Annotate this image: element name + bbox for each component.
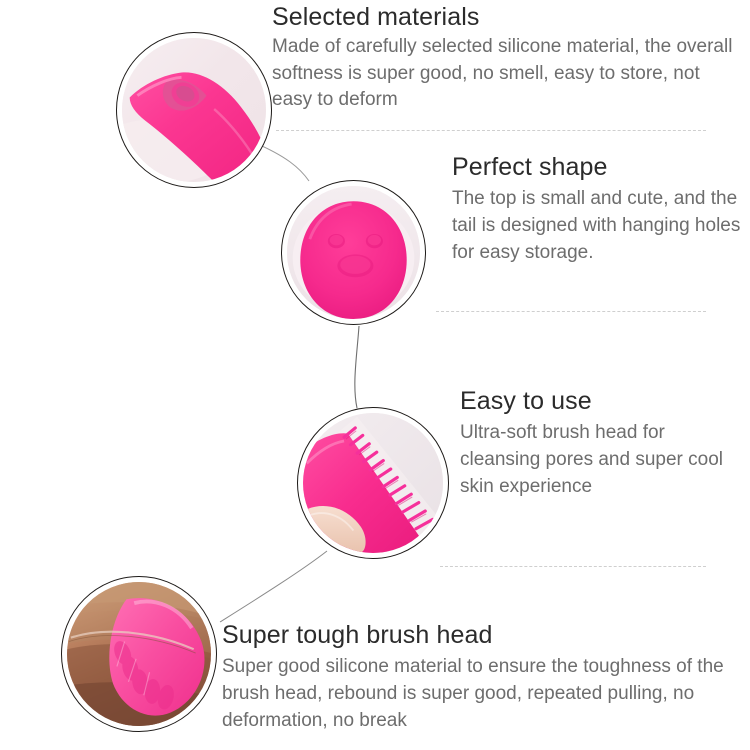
feature-photo-frame (303, 413, 443, 553)
feature-text-selected-materials: Selected materials Made of carefully sel… (272, 2, 742, 114)
photo-brush-handle (122, 38, 266, 182)
feature-heading: Easy to use (460, 386, 745, 417)
feature-image-super-tough-brush-head (61, 576, 217, 732)
divider-2 (436, 311, 706, 312)
feature-heading: Selected materials (272, 2, 742, 32)
feature-text-super-tough-brush-head: Super tough brush head Super good silico… (222, 620, 747, 734)
feature-text-easy-to-use: Easy to use Ultra-soft brush head for cl… (460, 386, 745, 500)
feature-photo-frame (67, 582, 211, 726)
photo-brush-on-skin (67, 582, 211, 726)
divider-1 (276, 130, 706, 131)
photo-brush-top (287, 186, 420, 319)
feature-photo-frame (122, 38, 266, 182)
infographic-canvas: Selected materials Made of carefully sel… (0, 0, 750, 750)
feature-heading: Super tough brush head (222, 620, 747, 651)
feature-text-perfect-shape: Perfect shape The top is small and cute,… (452, 152, 742, 266)
feature-body: Ultra-soft brush head for cleansing pore… (460, 419, 745, 500)
photo-bristle-head (303, 413, 443, 553)
feature-image-selected-materials (116, 32, 272, 188)
feature-image-perfect-shape (281, 180, 426, 325)
divider-3 (440, 566, 706, 567)
feature-heading: Perfect shape (452, 152, 742, 183)
feature-photo-frame (287, 186, 420, 319)
feature-body: Made of carefully selected silicone mate… (272, 34, 742, 114)
feature-body: The top is small and cute, and the tail … (452, 185, 742, 266)
feature-image-easy-to-use (297, 407, 449, 559)
feature-body: Super good silicone material to ensure t… (222, 653, 747, 734)
